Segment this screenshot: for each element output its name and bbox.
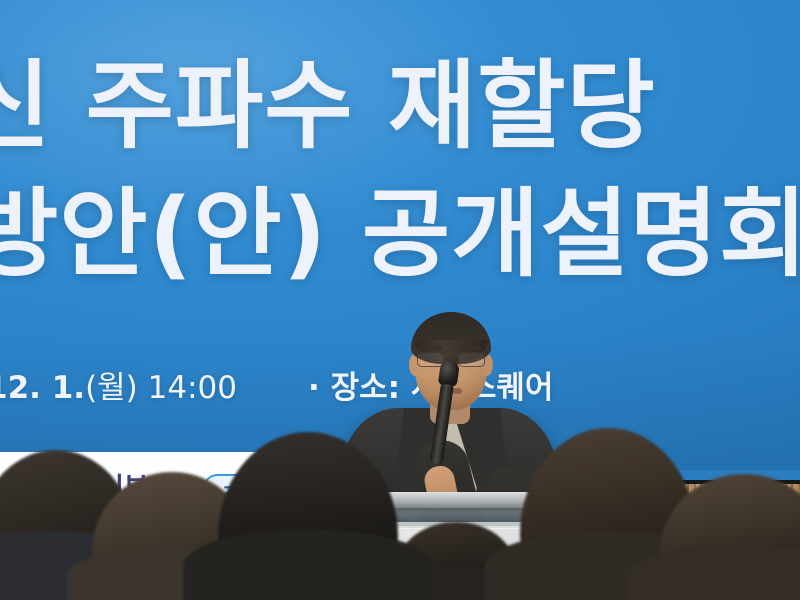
microphone-head [438, 359, 460, 387]
banner-date-bold: 12. 1. [0, 370, 85, 406]
banner-date-rest: (월) 14:00 [85, 370, 237, 406]
audience-shoulders [183, 530, 433, 600]
glasses-lens-right [458, 352, 485, 367]
banner-headline-line-1: 신 주파수 재할당 [0, 58, 656, 154]
banner-date-time: 12. 1.(월) 14:00 [0, 362, 237, 407]
banner-headline-line-2: 방안(안) 공개설명회 [0, 186, 800, 282]
photo-scene: 신 주파수 재할당 방안(안) 공개설명회 12. 1.(월) 14:00 · … [0, 0, 800, 600]
